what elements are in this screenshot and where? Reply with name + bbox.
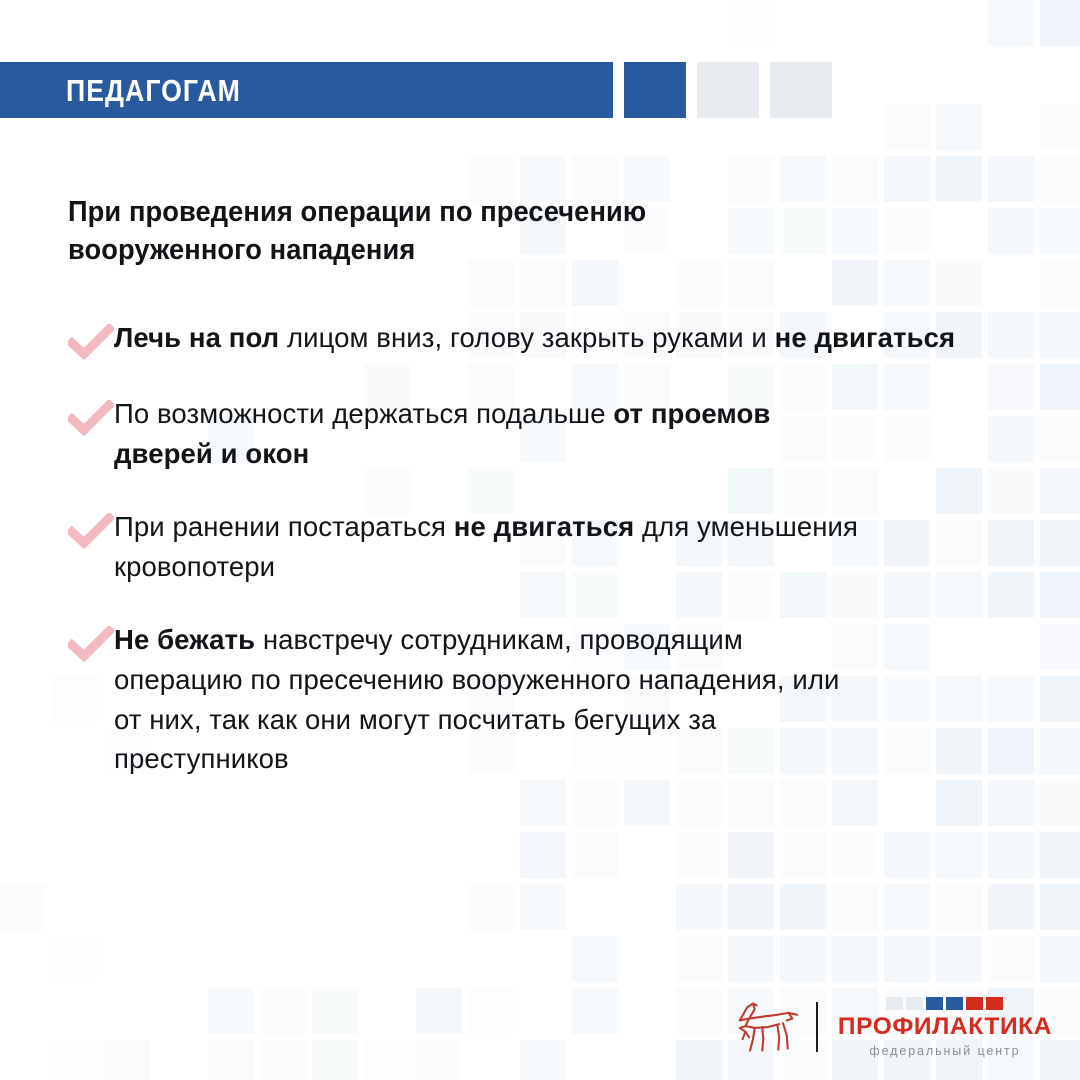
check-icon [68, 400, 114, 436]
logo-square-red-4 [966, 997, 983, 1010]
advice-list: Лечь на пол лицом вниз, голову закрыть р… [68, 318, 1028, 779]
section-heading-line-1: При проведения операции по пресечению [68, 193, 839, 231]
page-title: ПЕДАГОГАМ [66, 75, 241, 106]
header-square-blue [624, 62, 686, 118]
header-square-grey-1 [697, 62, 759, 118]
header-bar: ПЕДАГОГАМ [0, 62, 613, 118]
advice-item: Не бежать навстречу сотрудникам, проводя… [68, 620, 1028, 778]
check-icon [68, 626, 114, 662]
advice-item-text: Не бежать навстречу сотрудникам, проводя… [114, 620, 874, 778]
logo-square-grey-1 [906, 997, 923, 1010]
logo-square-blue-2 [926, 997, 943, 1010]
logo-square-red-5 [986, 997, 1003, 1010]
check-icon [68, 513, 114, 549]
header-square-grey-2 [770, 62, 832, 118]
check-icon [68, 324, 114, 360]
logo-square-grey-0 [886, 997, 903, 1010]
poster-canvas: ПЕДАГОГАМ При проведения операции по пре… [0, 0, 1080, 1080]
logo-square-row [886, 997, 1003, 1010]
section-heading-line-2: вооруженного нападения [68, 231, 839, 269]
logo-divider [816, 1002, 818, 1052]
section-heading: При проведения операции по пресечению во… [68, 193, 839, 270]
advice-item: При ранении постараться не двигаться для… [68, 507, 1028, 586]
advice-item-text: При ранении постараться не двигаться для… [114, 507, 874, 586]
advice-item-text: Лечь на пол лицом вниз, голову закрыть р… [114, 318, 994, 358]
footer-logo: ПРОФИЛАКТИКА федеральный центр [734, 996, 1052, 1058]
header-banner: ПЕДАГОГАМ [0, 62, 832, 118]
advice-item: Лечь на пол лицом вниз, голову закрыть р… [68, 318, 1028, 360]
brand-subtitle: федеральный центр [869, 1045, 1020, 1058]
brand-name: ПРОФИЛАКТИКА [838, 1015, 1052, 1040]
horse-line-art-icon [734, 996, 800, 1058]
advice-item: По возможности держаться подальше от про… [68, 394, 1028, 473]
logo-square-blue-3 [946, 997, 963, 1010]
advice-item-text: По возможности держаться подальше от про… [114, 394, 874, 473]
logo-text-block: ПРОФИЛАКТИКА федеральный центр [838, 997, 1052, 1057]
